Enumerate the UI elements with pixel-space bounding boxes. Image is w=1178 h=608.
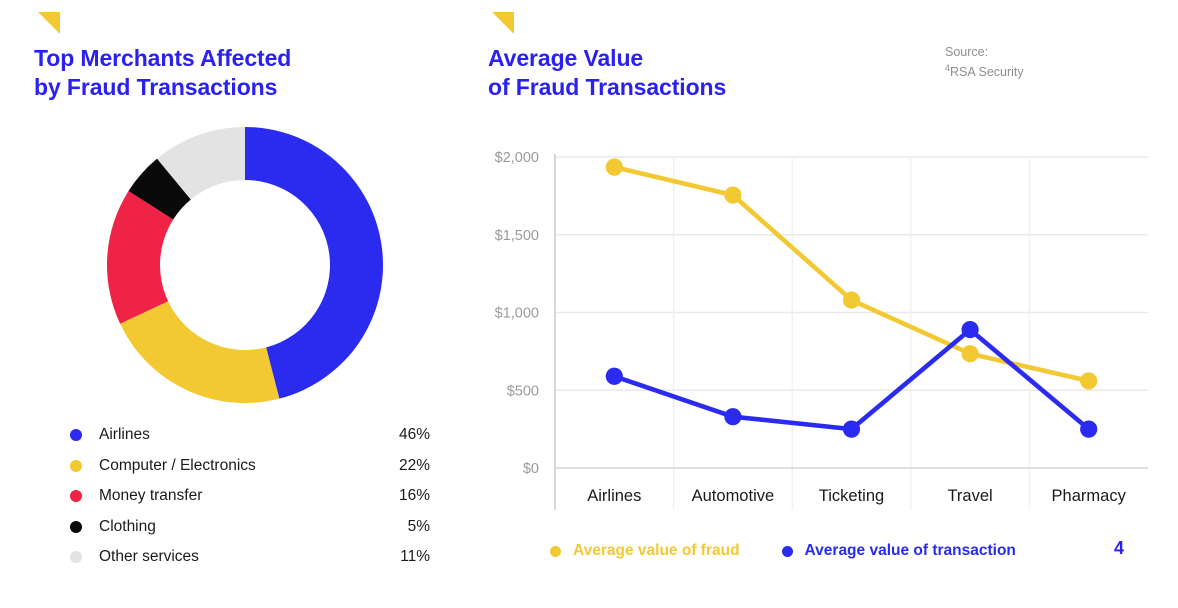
data-point-transaction-2 — [843, 421, 860, 438]
merchants-title-line-1: Top Merchants Affected — [34, 44, 454, 73]
data-point-transaction-4 — [1080, 421, 1097, 438]
x-axis-tick-label: Ticketing — [819, 487, 884, 505]
data-point-transaction-1 — [724, 408, 741, 425]
y-axis-tick-label: $2,000 — [495, 150, 539, 166]
triangle-flag-icon — [38, 12, 60, 34]
average-value-panel: Average Value of Fraud Transactions Sour… — [488, 12, 1158, 592]
legend-color-dot-icon — [70, 490, 82, 502]
source-note: Source: 4RSA Security — [945, 44, 1024, 82]
x-axis-tick-label: Airlines — [587, 487, 641, 505]
legend-item-value: 22% — [399, 457, 430, 475]
data-point-fraud-4 — [1080, 372, 1097, 389]
average-title-line-1: Average Value — [488, 44, 1158, 73]
legend-color-dot-icon — [70, 429, 82, 441]
line-legend-item-label: Average value of fraud — [573, 542, 740, 560]
line-legend-item: Average value of fraud — [550, 542, 740, 560]
triangle-flag-icon — [492, 12, 514, 34]
x-axis-tick-label: Pharmacy — [1052, 487, 1127, 505]
legend-item-value: 46% — [399, 426, 430, 444]
donut-slice-computer-electronics — [120, 301, 279, 403]
legend-item-value: 11% — [400, 548, 430, 566]
legend-color-dot-icon — [70, 551, 82, 563]
page-number: 4 — [1114, 538, 1124, 559]
legend-item-label: Other services — [99, 548, 400, 566]
donut-chart — [100, 120, 390, 410]
legend-color-dot-icon — [70, 521, 82, 533]
legend-color-dot-icon — [70, 460, 82, 472]
y-axis-tick-label: $0 — [523, 461, 539, 477]
legend-item: Computer / Electronics22% — [70, 451, 430, 482]
line-series-fraud — [614, 167, 1088, 381]
x-axis-tick-label: Travel — [947, 487, 992, 505]
legend-item-value: 5% — [408, 518, 430, 536]
merchants-panel: Top Merchants Affected by Fraud Transact… — [34, 12, 454, 592]
y-axis-tick-label: $500 — [507, 383, 539, 399]
data-point-fraud-3 — [962, 345, 979, 362]
legend-item: Clothing5% — [70, 512, 430, 543]
legend-item-label: Money transfer — [99, 487, 399, 505]
legend-item: Other services11% — [70, 542, 430, 573]
donut-chart-svg — [100, 120, 390, 410]
y-axis-tick-label: $1,500 — [495, 228, 539, 244]
legend-color-dot-icon — [550, 546, 561, 557]
source-name: RSA Security — [950, 65, 1024, 79]
data-point-fraud-0 — [606, 159, 623, 176]
legend-item: Airlines46% — [70, 420, 430, 451]
line-chart: $0$500$1,000$1,500$2,000AirlinesAutomoti… — [488, 124, 1158, 524]
legend-color-dot-icon — [782, 546, 793, 557]
line-chart-svg: $0$500$1,000$1,500$2,000AirlinesAutomoti… — [488, 124, 1158, 524]
line-chart-legend: Average value of fraudAverage value of t… — [550, 542, 1150, 560]
line-series-transaction — [614, 330, 1088, 430]
data-point-fraud-2 — [843, 291, 860, 308]
donut-legend: Airlines46%Computer / Electronics22%Mone… — [70, 420, 430, 573]
source-label: Source: — [945, 44, 1024, 62]
y-axis-tick-label: $1,000 — [495, 306, 539, 322]
average-title-line-2: of Fraud Transactions — [488, 73, 1158, 102]
merchants-title-line-2: by Fraud Transactions — [34, 73, 454, 102]
page-title-merchants: Top Merchants Affected by Fraud Transact… — [34, 44, 454, 103]
legend-item-value: 16% — [399, 487, 430, 505]
data-point-fraud-1 — [724, 186, 741, 203]
legend-item: Money transfer16% — [70, 481, 430, 512]
data-point-transaction-3 — [962, 321, 979, 338]
legend-item-label: Computer / Electronics — [99, 457, 399, 475]
x-axis-tick-label: Automotive — [692, 487, 775, 505]
line-legend-item-label: Average value of transaction — [805, 542, 1016, 560]
line-legend-item: Average value of transaction — [782, 542, 1016, 560]
legend-item-label: Airlines — [99, 426, 399, 444]
source-citation: 4RSA Security — [945, 62, 1024, 82]
data-point-transaction-0 — [606, 368, 623, 385]
legend-item-label: Clothing — [99, 518, 408, 536]
page-title-average-value: Average Value of Fraud Transactions — [488, 44, 1158, 103]
